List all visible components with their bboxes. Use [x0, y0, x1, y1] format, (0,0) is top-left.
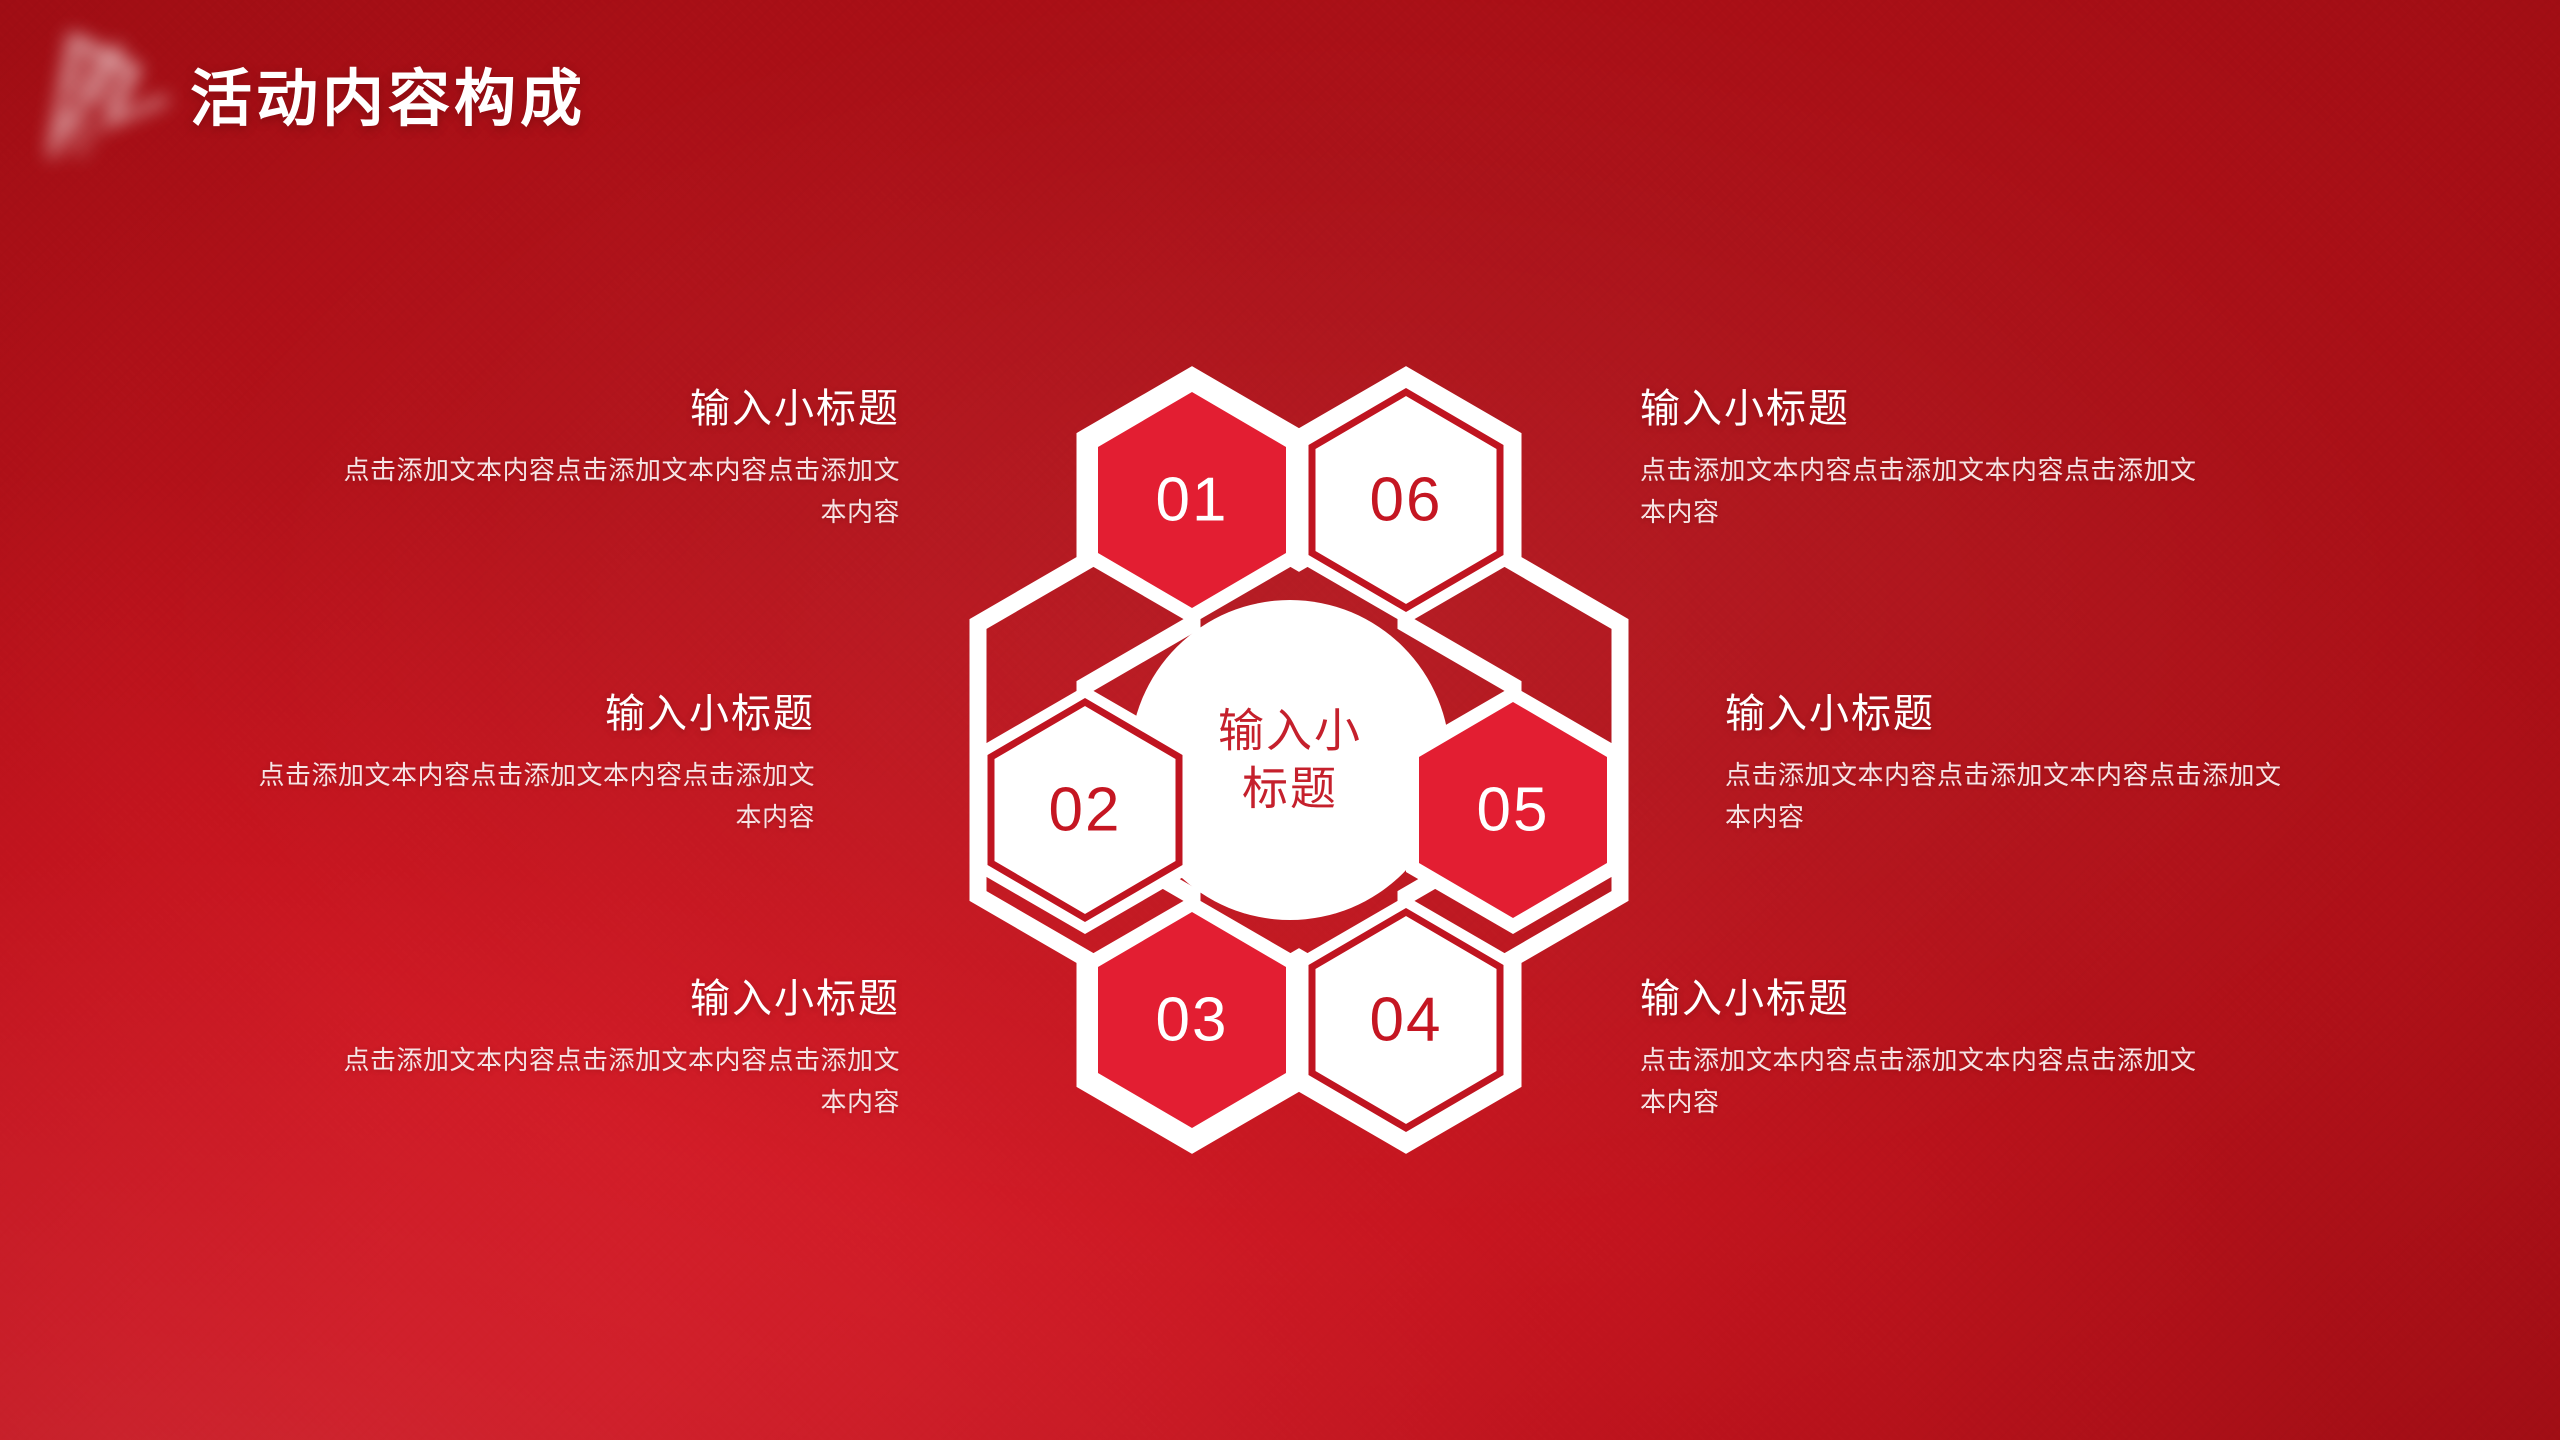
slide-canvas: 活动内容构成 01 [0, 0, 2560, 1440]
hex-node-03-number: 03 [1156, 986, 1229, 1055]
text-block-06-title: 输入小标题 [1640, 385, 2200, 433]
text-block-03-body: 点击添加文本内容点击添加文本内容点击添加文本内容 [340, 1039, 900, 1123]
ribbon-flourish-icon [14, 4, 204, 194]
page-title: 活动内容构成 [190, 48, 586, 138]
text-block-04-title: 输入小标题 [1640, 975, 2200, 1023]
text-block-04[interactable]: 输入小标题 点击添加文本内容点击添加文本内容点击添加文本内容 [1640, 975, 2200, 1123]
text-block-06[interactable]: 输入小标题 点击添加文本内容点击添加文本内容点击添加文本内容 [1640, 385, 2200, 533]
text-block-04-body: 点击添加文本内容点击添加文本内容点击添加文本内容 [1640, 1039, 2200, 1123]
text-block-01-body: 点击添加文本内容点击添加文本内容点击添加文本内容 [340, 449, 900, 533]
hex-node-06-number: 06 [1370, 466, 1443, 535]
hex-node-02-number: 02 [1049, 776, 1122, 845]
text-block-02-title: 输入小标题 [255, 690, 815, 738]
text-block-02[interactable]: 输入小标题 点击添加文本内容点击添加文本内容点击添加文本内容 [255, 690, 815, 838]
text-block-03-title: 输入小标题 [340, 975, 900, 1023]
honeycomb-diagram: 01 06 02 05 [840, 350, 1740, 1170]
text-block-01-title: 输入小标题 [340, 385, 900, 433]
hex-node-01-number: 01 [1156, 466, 1229, 535]
text-block-05-title: 输入小标题 [1725, 690, 2285, 738]
text-block-01[interactable]: 输入小标题 点击添加文本内容点击添加文本内容点击添加文本内容 [340, 385, 900, 533]
text-block-03[interactable]: 输入小标题 点击添加文本内容点击添加文本内容点击添加文本内容 [340, 975, 900, 1123]
text-block-06-body: 点击添加文本内容点击添加文本内容点击添加文本内容 [1640, 449, 2200, 533]
text-block-02-body: 点击添加文本内容点击添加文本内容点击添加文本内容 [255, 754, 815, 838]
text-block-05-body: 点击添加文本内容点击添加文本内容点击添加文本内容 [1725, 754, 2285, 838]
hex-node-05-number: 05 [1477, 776, 1550, 845]
hex-node-04-number: 04 [1370, 986, 1443, 1055]
text-block-05[interactable]: 输入小标题 点击添加文本内容点击添加文本内容点击添加文本内容 [1725, 690, 2285, 838]
